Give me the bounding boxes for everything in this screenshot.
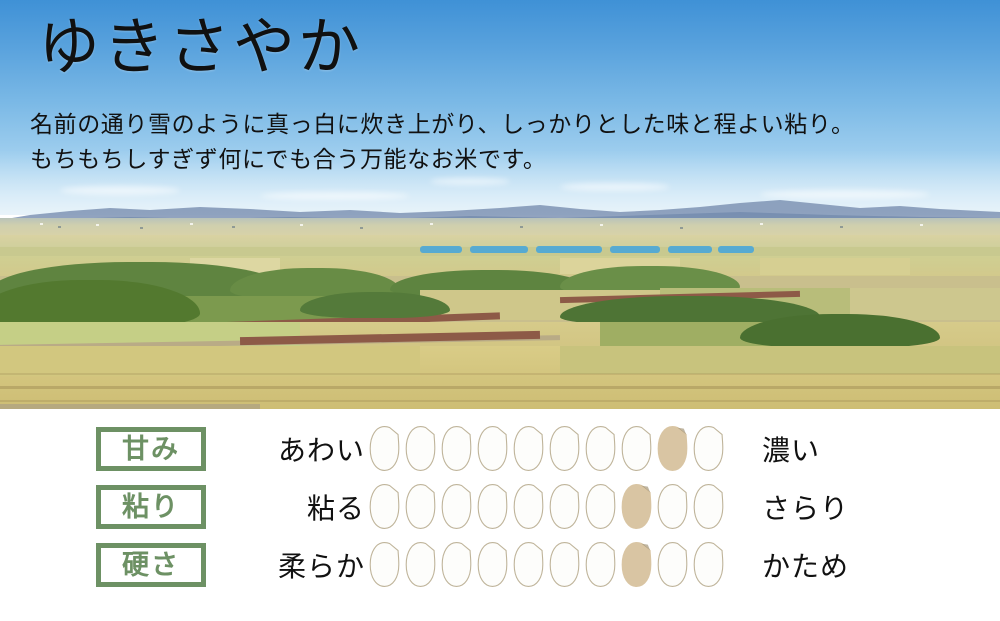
rice-grain-empty-icon	[512, 425, 545, 472]
rice-grain-empty-icon	[440, 541, 473, 588]
rice-grain-empty-icon	[548, 425, 581, 472]
rating-scale	[368, 483, 725, 530]
rating-scale	[368, 425, 725, 472]
rice-grain-empty-icon	[476, 483, 509, 530]
page-title: ゆきさやか	[38, 16, 363, 81]
description-line-1: 名前の通り雪のように真っ白に炊き上がり、しっかりとした味と程よい粘り。	[30, 108, 855, 143]
rating-low-label: あわい	[215, 427, 365, 471]
description-line-2: もちもちしすぎず何にでも合う万能なお米です。	[30, 143, 855, 178]
rice-grain-empty-icon	[656, 483, 689, 530]
rating-low-label: 柔らか	[215, 543, 365, 587]
rice-grain-empty-icon	[476, 425, 509, 472]
rice-grain-empty-icon	[404, 425, 437, 472]
field-patch	[560, 346, 1000, 374]
greenhouse-roof	[420, 246, 462, 253]
rice-grain-empty-icon	[512, 541, 545, 588]
greenhouse-roof	[470, 246, 528, 253]
rice-grain-empty-icon	[584, 483, 617, 530]
rice-grain-empty-icon	[476, 541, 509, 588]
rice-grain-empty-icon	[368, 483, 401, 530]
rating-badge-2: 硬さ	[96, 543, 206, 587]
field-patch	[0, 346, 420, 376]
cloud-wisp	[60, 186, 180, 195]
rice-grain-empty-icon	[620, 425, 653, 472]
rice-grain-empty-icon	[404, 541, 437, 588]
rice-grain-empty-icon	[548, 483, 581, 530]
rice-grain-empty-icon	[584, 425, 617, 472]
rice-grain-empty-icon	[692, 541, 725, 588]
field-patch	[760, 258, 910, 275]
rating-row: 硬さ柔らかかため	[0, 537, 1000, 595]
taste-rating-panel: 甘みあわい濃い粘り粘るさらり硬さ柔らかかため	[0, 409, 1000, 621]
distant-town-band	[0, 218, 1000, 236]
rice-grain-empty-icon	[368, 541, 401, 588]
cloud-wisp	[430, 178, 510, 185]
rating-high-label: かため	[762, 543, 849, 587]
rice-grain-empty-icon	[548, 541, 581, 588]
rice-grain-empty-icon	[692, 483, 725, 530]
rice-grain-empty-icon	[692, 425, 725, 472]
rice-grain-empty-icon	[368, 425, 401, 472]
greenhouse-roof	[610, 246, 660, 253]
rating-high-label: さらり	[762, 485, 849, 529]
rating-badge-label: 粘り	[122, 494, 180, 521]
paddy-furrow	[0, 386, 1000, 389]
rice-grain-filled-icon	[620, 541, 653, 588]
product-page: ゆきさやか 名前の通り雪のように真っ白に炊き上がり、しっかりとした味と程よい粘り…	[0, 0, 1000, 621]
rice-grain-filled-icon	[620, 483, 653, 530]
cloud-wisp	[560, 183, 670, 191]
rating-badge-0: 甘み	[96, 427, 206, 471]
rice-grain-empty-icon	[440, 425, 473, 472]
rice-grain-empty-icon	[404, 483, 437, 530]
rice-grain-empty-icon	[440, 483, 473, 530]
rice-grain-filled-icon	[656, 425, 689, 472]
greenhouse-roof	[668, 246, 712, 253]
greenhouse-roof	[718, 246, 754, 253]
greenhouse-roof	[536, 246, 602, 253]
landscape-photo	[0, 218, 1000, 409]
rating-row: 粘り粘るさらり	[0, 479, 1000, 537]
rating-scale	[368, 541, 725, 588]
paddy-furrow	[0, 400, 1000, 402]
rating-row: 甘みあわい濃い	[0, 421, 1000, 479]
tree-belt	[300, 292, 450, 318]
rating-badge-label: 甘み	[122, 436, 180, 463]
hero-description: 名前の通り雪のように真っ白に炊き上がり、しっかりとした味と程よい粘り。 もちもち…	[30, 108, 855, 178]
rating-low-label: 粘る	[215, 485, 365, 529]
rating-rows: 甘みあわい濃い粘り粘るさらり硬さ柔らかかため	[0, 421, 1000, 595]
rice-grain-empty-icon	[584, 541, 617, 588]
rating-high-label: 濃い	[762, 427, 820, 471]
paddy-furrow	[0, 373, 1000, 375]
rating-badge-label: 硬さ	[122, 552, 180, 579]
hero-section: ゆきさやか 名前の通り雪のように真っ白に炊き上がり、しっかりとした味と程よい粘り…	[0, 0, 1000, 409]
rice-grain-empty-icon	[656, 541, 689, 588]
rice-grain-empty-icon	[512, 483, 545, 530]
rating-badge-1: 粘り	[96, 485, 206, 529]
